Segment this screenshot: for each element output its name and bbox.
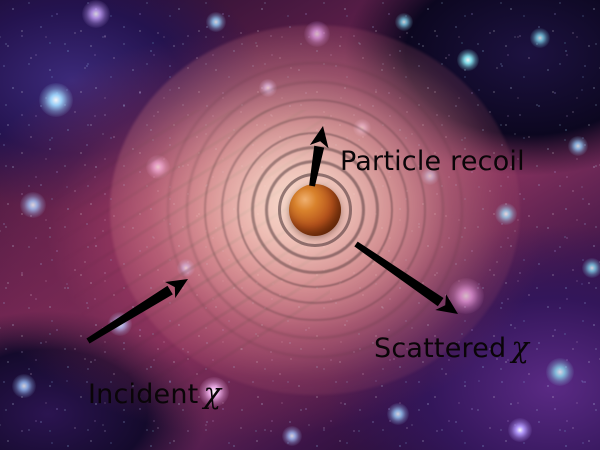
bright-star bbox=[82, 0, 110, 28]
bright-star bbox=[582, 258, 600, 278]
scattering-illustration: Particle recoil Scatteredχ Incidentχ bbox=[0, 0, 600, 450]
bright-star bbox=[282, 426, 302, 446]
bright-star bbox=[12, 374, 36, 398]
bright-star bbox=[508, 418, 532, 442]
chi-symbol-scattered: χ bbox=[506, 330, 529, 364]
bright-star bbox=[568, 136, 588, 156]
bright-star bbox=[206, 12, 226, 32]
target-nucleus-sphere bbox=[289, 184, 341, 236]
bright-star bbox=[546, 358, 574, 386]
bright-star bbox=[39, 83, 73, 117]
chi-symbol-incident: χ bbox=[198, 376, 221, 410]
label-incident-chi: Incidentχ bbox=[88, 379, 221, 408]
label-particle-recoil: Particle recoil bbox=[340, 148, 525, 175]
bright-star bbox=[20, 192, 46, 218]
bright-star bbox=[387, 403, 409, 425]
label-particle-recoil-text: Particle recoil bbox=[340, 146, 525, 177]
label-incident-text: Incident bbox=[88, 379, 198, 410]
bright-star bbox=[395, 13, 413, 31]
bright-star bbox=[457, 49, 479, 71]
bright-star bbox=[530, 28, 550, 48]
label-scattered-chi: Scatteredχ bbox=[374, 333, 529, 362]
label-scattered-text: Scattered bbox=[374, 333, 506, 364]
bright-star bbox=[108, 312, 132, 336]
